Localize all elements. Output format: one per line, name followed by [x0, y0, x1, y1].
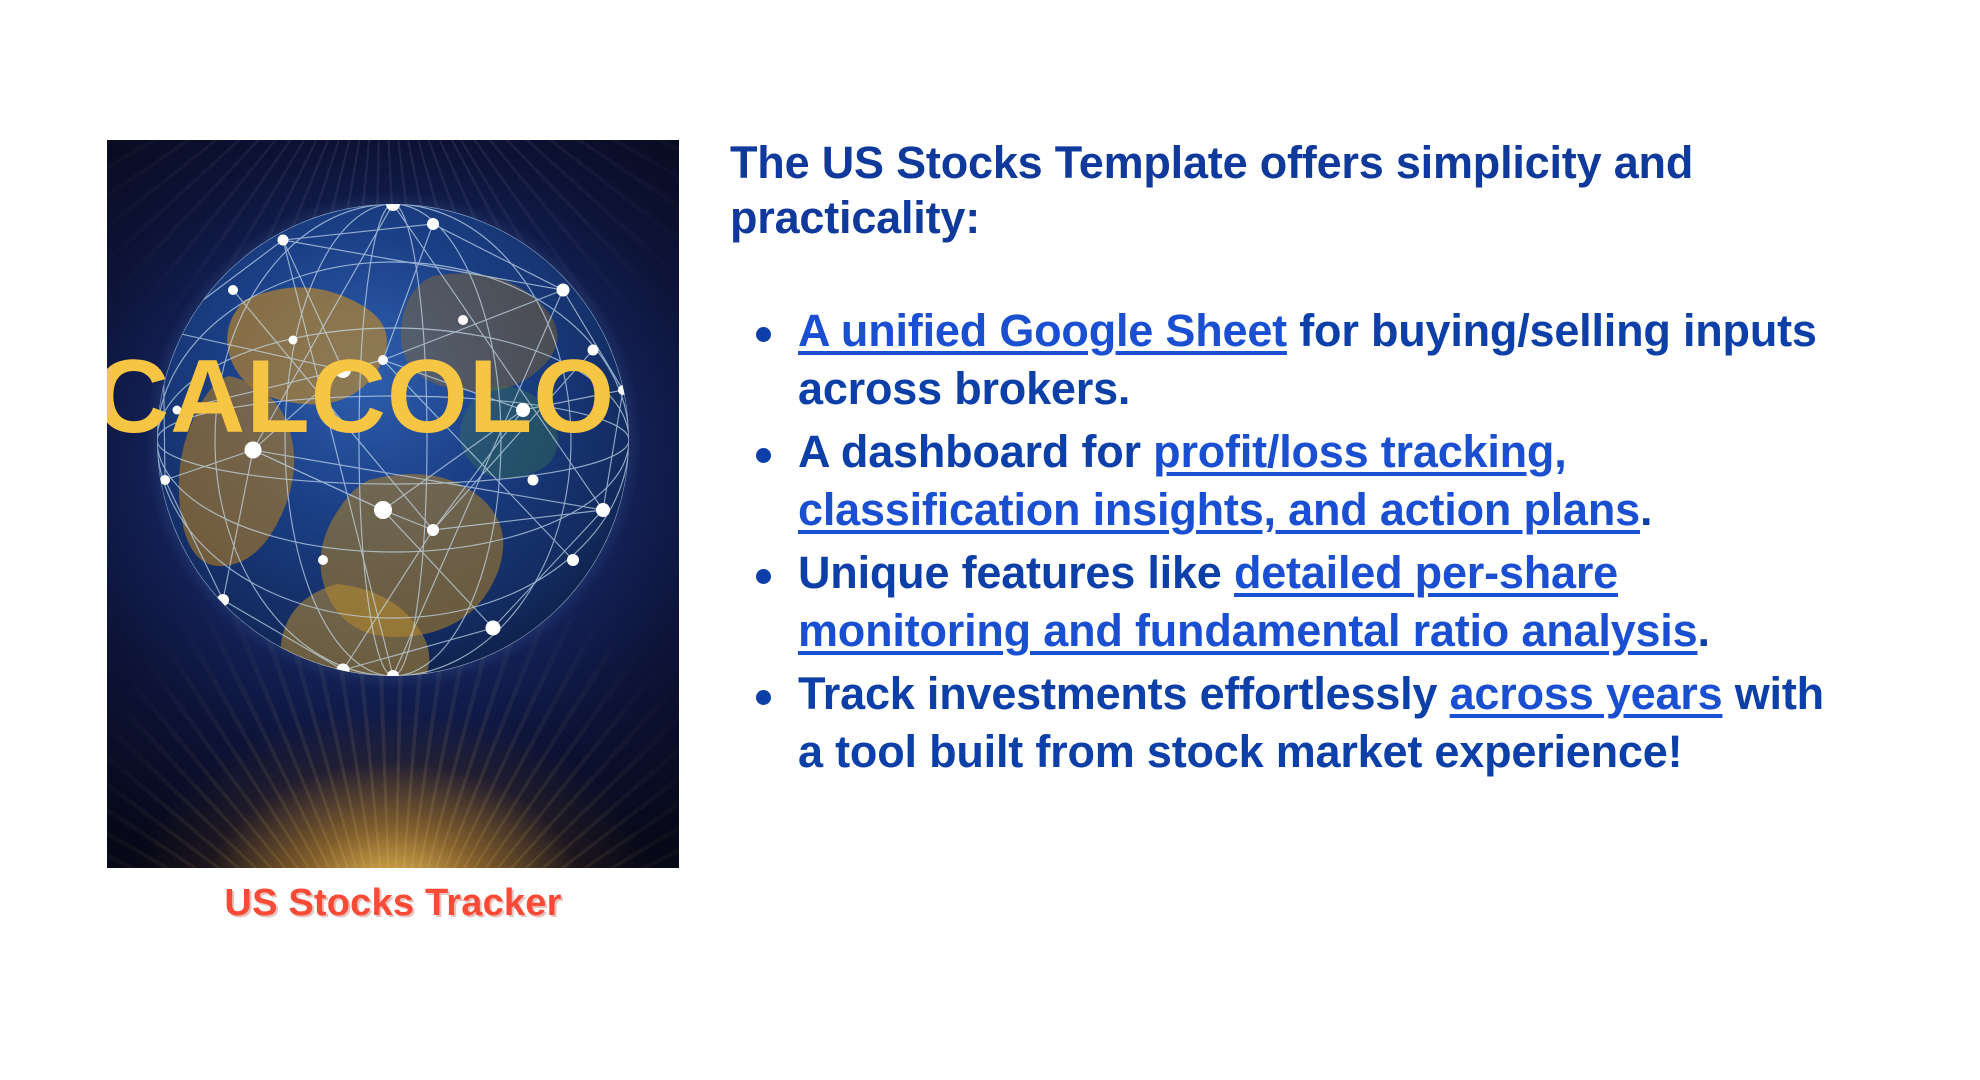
slide-canvas: CALCOLO US Stocks Tracker The US Stocks … — [0, 0, 1980, 1080]
feature-link[interactable]: across years — [1450, 668, 1723, 719]
feature-link[interactable]: A unified Google Sheet — [798, 305, 1287, 356]
feature-text: Unique features like — [798, 547, 1234, 598]
product-thumbnail[interactable]: CALCOLO — [107, 140, 679, 868]
feature-bullet-dashboard-tracking: A dashboard for profit/loss tracking, cl… — [798, 423, 1860, 540]
copy-column: The US Stocks Template offers simplicity… — [730, 136, 1860, 786]
thumbnail-caption: US Stocks Tracker — [107, 882, 679, 925]
feature-bullet-unique-features: Unique features like detailed per-share … — [798, 544, 1860, 661]
feature-bullet-list: A unified Google Sheet for buying/sellin… — [730, 302, 1860, 782]
feature-bullet-track-across-years: Track investments effortlessly across ye… — [798, 665, 1860, 782]
headline: The US Stocks Template offers simplicity… — [730, 136, 1860, 246]
feature-text: . — [1697, 605, 1709, 656]
media-column: CALCOLO US Stocks Tracker — [107, 140, 679, 925]
feature-bullet-unified-google-sheet: A unified Google Sheet for buying/sellin… — [798, 302, 1860, 419]
feature-text: A dashboard for — [798, 426, 1153, 477]
feature-text: . — [1640, 484, 1652, 535]
brand-overlay-text: CALCOLO — [107, 345, 679, 449]
feature-text: Track investments effortlessly — [798, 668, 1450, 719]
